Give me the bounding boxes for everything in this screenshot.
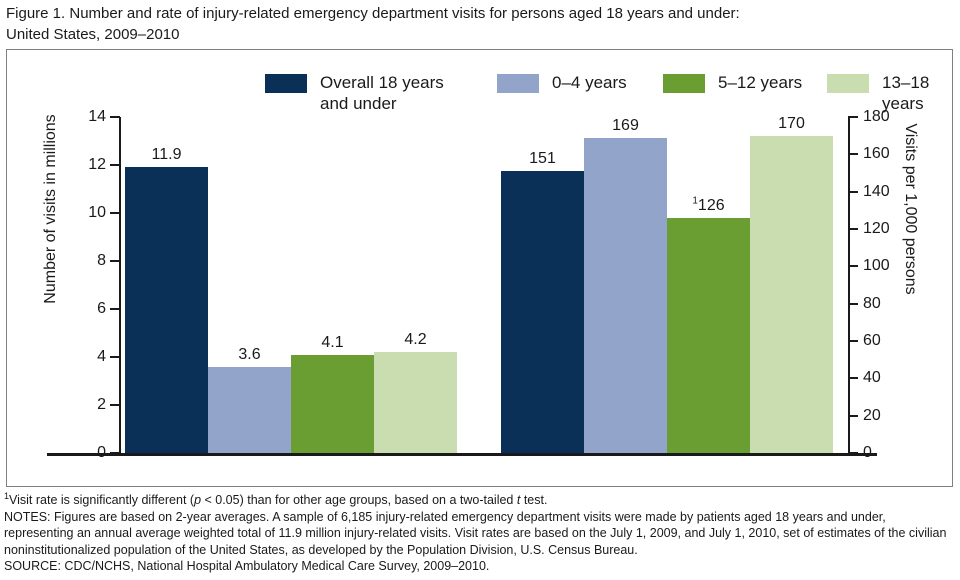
right-tick-60 (848, 340, 858, 342)
bar-value-footnote-marker: 1 (692, 195, 698, 206)
page-title: Figure 1. Number and rate of injury-rela… (6, 3, 946, 45)
legend-item-2: 5–12 years (663, 72, 802, 93)
legend-swatch-overall (265, 74, 307, 93)
bar-left-overall (125, 167, 208, 453)
bar-left-age_5_12 (291, 355, 374, 453)
bar-right-age_13_18 (750, 136, 833, 453)
right-tick-0 (848, 452, 858, 454)
right-tick-20 (848, 415, 858, 417)
right-tick-label-20: 20 (863, 408, 923, 424)
left-tick-label-4: 4 (46, 349, 106, 365)
right-tick-100 (848, 265, 858, 267)
bar-value-label-left-overall: 11.9 (125, 146, 208, 164)
legend-label-0: Overall 18 years and under (320, 72, 444, 114)
footnote-significance-pre: Visit rate is significantly different ( (9, 493, 194, 507)
footnote-notes: NOTES: Figures are based on 2-year avera… (4, 509, 954, 559)
bar-left-age_0_4 (208, 367, 291, 453)
bar-value-label-right-age_13_18: 170 (750, 115, 833, 133)
footnotes: 1Visit rate is significantly different (… (4, 492, 954, 575)
bar-value-label-left-age_13_18: 4.2 (374, 331, 457, 349)
legend-label-1: 0–4 years (552, 72, 627, 93)
right-tick-label-0: 0 (863, 445, 923, 461)
bar-value-label-right-overall: 151 (501, 150, 584, 168)
right-tick-80 (848, 303, 858, 305)
bar-right-age_5_12 (667, 218, 750, 453)
right-tick-40 (848, 377, 858, 379)
bar-left-age_13_18 (374, 352, 457, 453)
bar-value-label-left-age_0_4: 3.6 (208, 346, 291, 364)
legend-swatch-age_5_12 (663, 74, 705, 93)
right-tick-140 (848, 191, 858, 193)
legend-label-2: 5–12 years (718, 72, 802, 93)
left-tick-label-2: 2 (46, 397, 106, 413)
right-tick-180 (848, 116, 858, 118)
bar-value-label-right-age_0_4: 169 (584, 117, 667, 135)
right-tick-160 (848, 153, 858, 155)
footnote-source: SOURCE: CDC/NCHS, National Hospital Ambu… (4, 558, 954, 575)
left-axis-title: Number of visits in millions (42, 99, 60, 319)
bar-value-label-left-age_5_12: 4.1 (291, 334, 374, 352)
legend: Overall 18 years and under0–4 years5–12 … (265, 72, 945, 118)
footnote-significance: 1Visit rate is significantly different (… (4, 492, 954, 509)
chart-frame: Overall 18 years and under0–4 years5–12 … (6, 49, 953, 487)
figure-page: Figure 1. Number and rate of injury-rela… (0, 0, 960, 580)
legend-item-1: 0–4 years (497, 72, 627, 93)
right-axis-title: Visits per 1,000 persons (901, 99, 919, 319)
legend-swatch-age_0_4 (497, 74, 539, 93)
plot-area: 11.93.64.14.21511691126170 (119, 117, 849, 453)
bottom-axis-line (47, 453, 877, 456)
footnote-significance-post: test. (520, 493, 547, 507)
right-tick-label-60: 60 (863, 333, 923, 349)
bar-right-age_0_4 (584, 138, 667, 453)
right-tick-120 (848, 228, 858, 230)
left-tick-label-0: 0 (46, 445, 106, 461)
footnote-p-italic: p (194, 493, 201, 507)
bar-value-label-right-age_5_12: 1126 (667, 197, 750, 215)
right-tick-label-40: 40 (863, 370, 923, 386)
bar-right-overall (501, 171, 584, 453)
legend-item-0: Overall 18 years and under (265, 72, 444, 114)
footnote-significance-mid: < 0.05) than for other age groups, based… (201, 493, 517, 507)
